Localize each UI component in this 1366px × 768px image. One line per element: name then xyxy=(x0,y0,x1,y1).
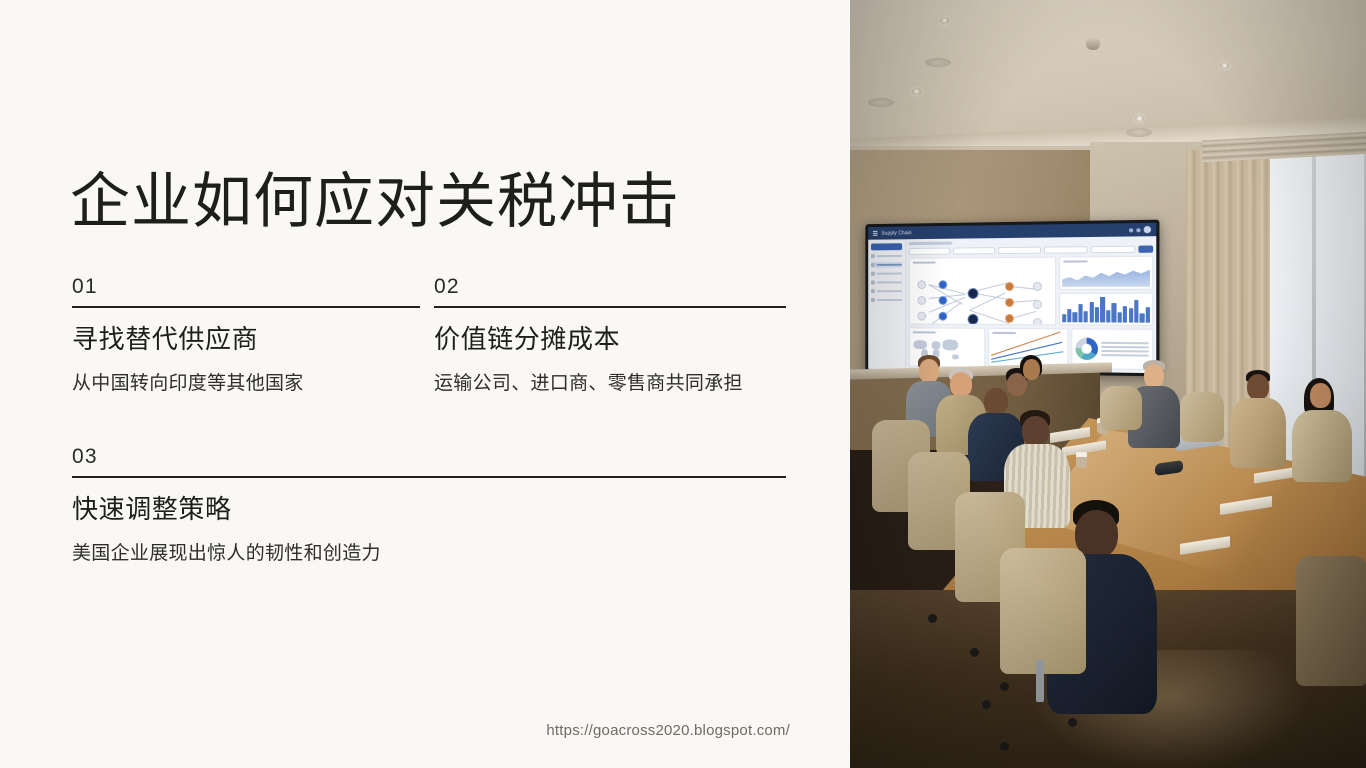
sidebar-item-label xyxy=(877,255,903,257)
flow-node-hub xyxy=(968,314,979,325)
sidebar-item-icon xyxy=(871,272,875,276)
flow-node-retail xyxy=(1033,282,1042,291)
legend-entry xyxy=(1101,350,1149,353)
head xyxy=(919,359,939,383)
filter-dropdown[interactable] xyxy=(998,247,1041,254)
sidebar-item-icon xyxy=(871,280,875,284)
boardroom-photo: Supply Chain xyxy=(850,0,1366,768)
ceiling-light-icon xyxy=(940,17,949,24)
filter-dropdown[interactable] xyxy=(953,247,995,254)
coffee-cup xyxy=(1076,452,1087,468)
bar xyxy=(1084,311,1088,323)
office-chair xyxy=(1000,548,1086,674)
bar xyxy=(1078,304,1082,322)
flow-node-supplier xyxy=(939,312,948,321)
bar xyxy=(1112,303,1116,322)
volume-bar-chart xyxy=(1059,293,1153,326)
sidebar-item-icon xyxy=(871,298,875,302)
menu-icon[interactable] xyxy=(873,231,878,236)
item-divider-01 xyxy=(72,306,420,308)
bar xyxy=(1062,314,1066,322)
flow-node-distributor xyxy=(1005,298,1014,307)
item-number-02: 02 xyxy=(434,276,786,297)
flow-node-retail xyxy=(1033,300,1042,309)
apply-button[interactable] xyxy=(1138,245,1153,252)
dashboard-sidebar xyxy=(868,239,906,369)
torso xyxy=(1292,410,1352,482)
head xyxy=(1023,359,1040,380)
dashboard-body xyxy=(868,236,1156,373)
ceiling-speaker-icon xyxy=(868,98,894,107)
gear-icon[interactable] xyxy=(1136,228,1140,232)
page-title: 企业如何应对关税冲击 xyxy=(70,168,680,235)
sidebar-item[interactable] xyxy=(871,297,902,303)
sidebar-item-icon xyxy=(871,254,875,258)
head xyxy=(1310,383,1331,408)
map-region xyxy=(952,354,959,359)
item-subtext-02: 运输公司、进口商、零售商共同承担 xyxy=(434,372,786,397)
strategy-item-01: 01 寻找替代供应商 从中国转向印度等其他国家 xyxy=(72,276,420,396)
strategy-item-03: 03 快速调整策略 美国企业展现出惊人的韧性和创造力 xyxy=(72,446,786,566)
ceiling-light-icon xyxy=(1135,115,1144,122)
donut-legend xyxy=(1101,342,1149,357)
bell-icon[interactable] xyxy=(1129,228,1133,232)
strategy-item-02: 02 价值链分摊成本 运输公司、进口商、零售商共同承担 xyxy=(434,276,786,396)
flow-node-distributor xyxy=(1005,314,1014,323)
donut-graphic xyxy=(1075,338,1098,361)
item-divider-02 xyxy=(434,306,786,308)
widget-title xyxy=(913,262,936,264)
item-divider-03 xyxy=(72,476,786,478)
widget-title xyxy=(992,332,1016,334)
search-input[interactable] xyxy=(1091,246,1136,254)
avatar[interactable] xyxy=(1144,226,1151,233)
map-region xyxy=(942,339,958,350)
head xyxy=(1247,374,1269,400)
trend-area-chart xyxy=(1059,256,1153,290)
ceiling-speaker-icon xyxy=(925,58,951,67)
sidebar-item-label xyxy=(877,273,903,275)
bar xyxy=(1117,312,1121,322)
office-chair xyxy=(1296,556,1366,686)
dashboard-right-column xyxy=(1059,256,1153,326)
dashboard-widgets xyxy=(909,256,1153,326)
chair-caster xyxy=(1068,718,1077,727)
source-url: https://goacross2020.blogspot.com/ xyxy=(0,722,790,739)
widget-title xyxy=(1063,260,1087,262)
sidebar-item[interactable] xyxy=(871,271,902,277)
sidebar-primary-button[interactable] xyxy=(871,243,902,250)
sidebar-item[interactable] xyxy=(871,288,902,294)
bar xyxy=(1101,297,1105,322)
breadcrumb xyxy=(909,242,952,245)
bar xyxy=(1145,307,1149,323)
flow-link xyxy=(1011,311,1036,319)
bar xyxy=(1140,314,1144,323)
legend-entry xyxy=(1101,354,1149,357)
sidebar-item-icon xyxy=(871,263,875,267)
bar xyxy=(1073,313,1077,323)
chair-caster xyxy=(1000,682,1009,691)
bar xyxy=(1067,309,1071,322)
dashboard-title: Supply Chain xyxy=(881,230,911,236)
head xyxy=(1144,364,1164,388)
office-chair xyxy=(1100,386,1142,430)
chair-caster xyxy=(970,648,979,657)
area-series xyxy=(1062,268,1150,287)
flow-node-source xyxy=(917,296,926,305)
sidebar-item-icon xyxy=(871,289,875,293)
head xyxy=(1022,416,1049,446)
item-number-03: 03 xyxy=(72,446,786,467)
item-number-01: 01 xyxy=(72,276,420,297)
dashboard-header-actions xyxy=(1129,226,1151,233)
filter-dropdown[interactable] xyxy=(909,248,950,255)
filter-bar xyxy=(909,245,1153,254)
chair-caster xyxy=(1000,742,1009,751)
ceiling-speaker-icon xyxy=(1126,128,1152,137)
item-heading-01: 寻找替代供应商 xyxy=(72,323,420,356)
item-heading-02: 价值链分摊成本 xyxy=(434,323,786,356)
bar xyxy=(1123,306,1127,323)
bar xyxy=(1134,300,1138,322)
office-chair xyxy=(1180,392,1224,442)
sidebar-item[interactable] xyxy=(871,279,902,285)
filter-dropdown[interactable] xyxy=(1044,246,1088,254)
sidebar-item-label xyxy=(877,299,903,301)
map-region xyxy=(932,341,941,349)
legend-entry xyxy=(1101,346,1149,349)
ceiling-light-icon xyxy=(912,88,921,95)
smoke-detector-icon xyxy=(1086,38,1100,50)
item-subtext-03: 美国企业展现出惊人的韧性和创造力 xyxy=(72,542,786,567)
ceiling-light-icon xyxy=(1220,62,1229,69)
item-subtext-01: 从中国转向印度等其他国家 xyxy=(72,372,420,397)
widget-title xyxy=(913,331,936,333)
supply-network-diagram xyxy=(909,257,1056,326)
sidebar-item-label xyxy=(877,290,903,292)
bar xyxy=(1129,309,1133,323)
item-heading-03: 快速调整策略 xyxy=(72,493,786,526)
head xyxy=(950,372,972,397)
sidebar-item[interactable] xyxy=(871,253,902,259)
bar xyxy=(1106,310,1110,323)
head xyxy=(984,388,1008,415)
sidebar-item-active[interactable] xyxy=(871,262,902,268)
flow-node-supplier xyxy=(939,296,948,305)
legend-entry xyxy=(1101,342,1149,344)
chair-caster xyxy=(982,700,991,709)
flow-node-source xyxy=(917,312,926,321)
dashboard-screen: Supply Chain xyxy=(868,223,1156,373)
torso xyxy=(1230,398,1286,468)
chair-caster xyxy=(928,614,937,623)
wall-display-screen: Supply Chain xyxy=(865,220,1159,377)
flow-node-hub xyxy=(968,288,979,299)
bar xyxy=(1095,307,1099,322)
chair-stem xyxy=(1036,660,1044,702)
flow-node-supplier xyxy=(939,280,948,289)
slide-content-panel: 企业如何应对关税冲击 01 寻找替代供应商 从中国转向印度等其他国家 02 价值… xyxy=(0,0,850,768)
flow-node-distributor xyxy=(1005,282,1014,291)
flow-node-source xyxy=(917,280,926,289)
flow-node-retail xyxy=(1033,318,1042,325)
map-region xyxy=(914,340,927,349)
bar xyxy=(1089,302,1093,323)
dashboard-main xyxy=(906,236,1156,373)
sidebar-item-label xyxy=(877,264,903,266)
sidebar-item-label xyxy=(877,281,903,283)
